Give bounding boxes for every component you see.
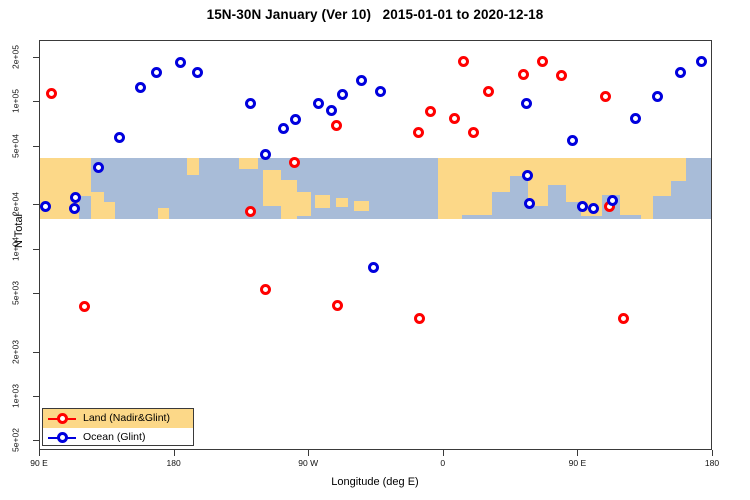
data-point-ocean <box>521 98 532 109</box>
data-point-ocean <box>567 135 578 146</box>
data-point-ocean <box>522 170 533 181</box>
y-tick-label-text: 5e+02 <box>11 425 21 456</box>
data-point-land <box>600 91 611 102</box>
data-point-ocean <box>313 98 324 109</box>
data-point-land <box>331 120 342 131</box>
land-mass <box>354 201 369 211</box>
land-mass <box>315 195 330 209</box>
y-tick-mark <box>33 249 39 250</box>
data-point-ocean <box>652 91 663 102</box>
land-mass <box>104 202 114 219</box>
data-point-ocean <box>114 132 125 143</box>
land-mass <box>548 158 566 186</box>
land-mass <box>239 158 258 169</box>
land-mass <box>158 208 168 219</box>
legend-label-land: Land (Nadir&Glint) <box>83 412 170 424</box>
legend-marker-ocean <box>57 432 68 443</box>
x-tick-mark <box>39 450 40 456</box>
y-tick-label: 5e+04 <box>0 141 31 151</box>
y-tick-label-text: 5e+03 <box>11 277 21 308</box>
land-mass <box>187 158 199 175</box>
x-tick-mark <box>174 450 175 456</box>
legend-item-ocean[interactable]: Ocean (Glint) <box>43 428 193 447</box>
x-tick-label: 90 E <box>569 458 587 468</box>
land-mass <box>671 158 686 181</box>
y-tick-mark <box>33 293 39 294</box>
land-mass <box>492 158 510 192</box>
land-mass <box>620 158 641 215</box>
land-mass <box>462 158 492 215</box>
y-tick-mark <box>33 204 39 205</box>
page-title: 15N-30N January (Ver 10) 2015-01-01 to 2… <box>0 7 750 22</box>
x-tick-label: 180 <box>705 458 719 468</box>
data-point-ocean <box>696 56 707 67</box>
x-tick-label: 0 <box>440 458 445 468</box>
legend-label-ocean: Ocean (Glint) <box>83 431 145 443</box>
land-mass <box>263 170 281 206</box>
land-mass <box>79 158 91 196</box>
x-tick-mark <box>308 450 309 456</box>
land-mass <box>336 198 348 207</box>
legend: Land (Nadir&Glint) Ocean (Glint) <box>42 408 194 446</box>
data-point-ocean <box>675 67 686 78</box>
data-point-land <box>289 157 300 168</box>
x-tick-label: 90 W <box>298 458 318 468</box>
x-tick-mark <box>577 450 578 456</box>
data-point-ocean <box>192 67 203 78</box>
y-tick-label: 2e+03 <box>0 347 31 357</box>
y-tick-label-text: 1e+03 <box>11 380 21 411</box>
y-tick-label: 5e+02 <box>0 435 31 445</box>
data-point-land <box>449 113 460 124</box>
land-mass <box>438 158 462 220</box>
y-tick-mark <box>33 101 39 102</box>
data-point-ocean <box>69 203 80 214</box>
data-point-land <box>618 313 629 324</box>
world-map-band <box>40 41 711 449</box>
data-point-land <box>537 56 548 67</box>
y-tick-mark <box>33 440 39 441</box>
legend-item-land[interactable]: Land (Nadir&Glint) <box>43 409 193 428</box>
y-tick-mark <box>33 146 39 147</box>
y-tick-label-text: 2e+05 <box>11 41 21 72</box>
y-axis-title: N Total <box>13 186 25 276</box>
data-point-land <box>458 56 469 67</box>
land-mass <box>91 192 104 220</box>
data-point-ocean <box>368 262 379 273</box>
land-mass <box>281 180 297 220</box>
x-tick-label: 90 E <box>30 458 48 468</box>
x-tick-mark <box>712 450 713 456</box>
x-axis-title: Longitude (deg E) <box>0 476 750 488</box>
y-tick-mark <box>33 57 39 58</box>
data-point-ocean <box>524 198 535 209</box>
data-point-ocean <box>93 162 104 173</box>
y-tick-mark <box>33 352 39 353</box>
y-tick-mark <box>33 396 39 397</box>
data-point-ocean <box>337 89 348 100</box>
y-tick-label: 5e+03 <box>0 288 31 298</box>
land-mass <box>566 158 581 202</box>
land-mass <box>297 192 310 217</box>
y-tick-label: 2e+05 <box>0 52 31 62</box>
data-point-ocean <box>588 203 599 214</box>
data-point-ocean <box>326 105 337 116</box>
land-mass <box>653 158 671 196</box>
chart-canvas: 15N-30N January (Ver 10) 2015-01-01 to 2… <box>0 0 750 500</box>
y-tick-label: 1e+03 <box>0 391 31 401</box>
y-tick-label-text: 1e+05 <box>11 86 21 117</box>
land-mass <box>641 158 653 220</box>
y-tick-label-text: 5e+04 <box>11 130 21 161</box>
data-point-ocean <box>151 67 162 78</box>
y-tick-label: 1e+05 <box>0 96 31 106</box>
data-point-land <box>518 69 529 80</box>
x-tick-mark <box>443 450 444 456</box>
x-tick-label: 180 <box>167 458 181 468</box>
data-point-ocean <box>630 113 641 124</box>
legend-marker-land <box>57 413 68 424</box>
plot-area <box>39 40 712 450</box>
y-tick-label-text: 2e+03 <box>11 336 21 367</box>
data-point-land <box>260 284 271 295</box>
land-mass <box>602 158 620 195</box>
data-point-land <box>332 300 343 311</box>
